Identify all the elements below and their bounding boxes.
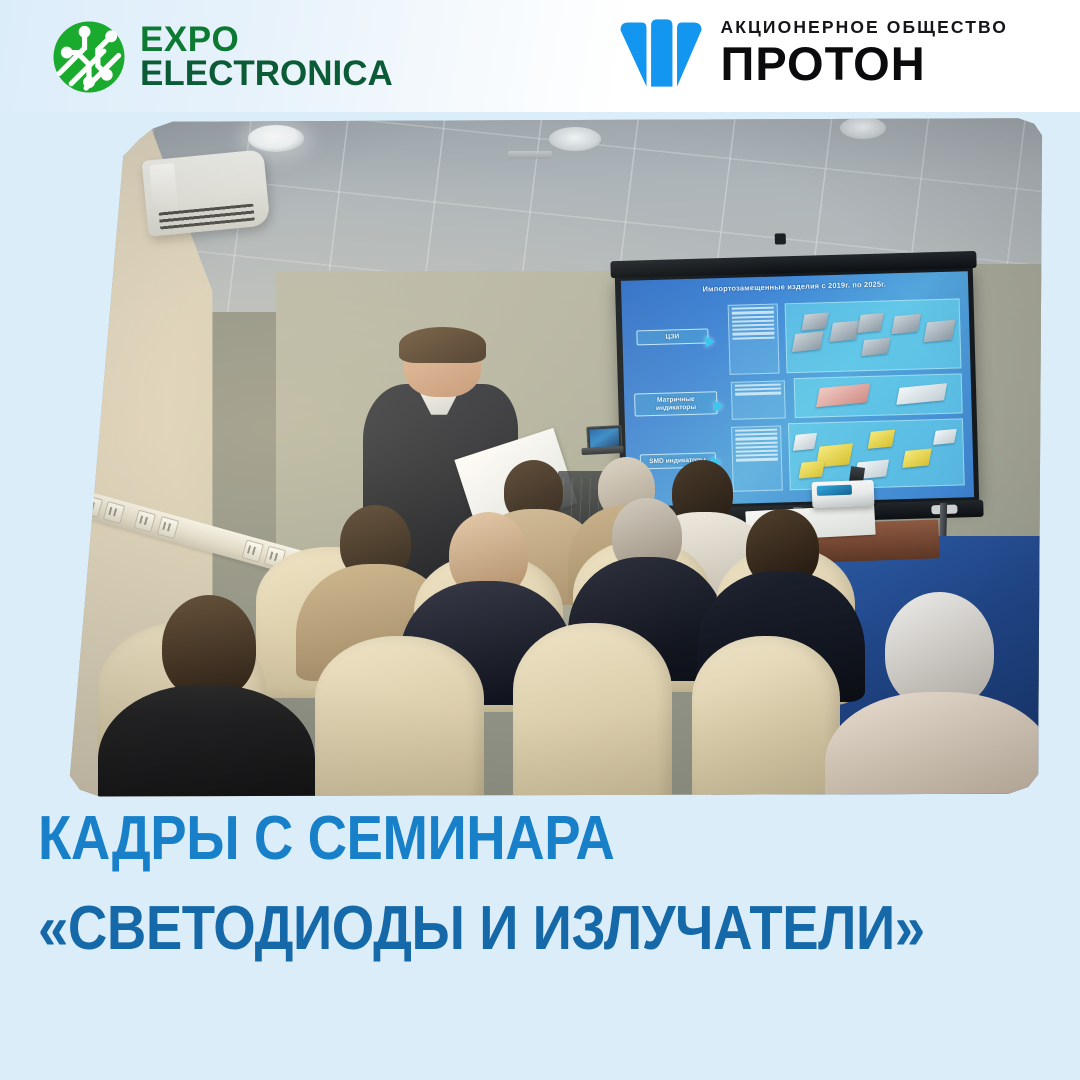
seminar-room-photo: Импортозамещенные изделия с 2019г. по 20…	[58, 112, 1048, 802]
poster-title-line2: «СВЕТОДИОДЫ И ИЗЛУЧАТЕЛИ»	[38, 896, 918, 962]
wall-socket	[157, 516, 179, 539]
presentation-slide: Импортозамещенные изделия с 2019г. по 20…	[621, 271, 974, 506]
chair	[513, 623, 671, 802]
slide-part-list	[731, 380, 786, 420]
expo-logo-line1: EXPO	[140, 23, 393, 57]
air-conditioner-icon	[142, 149, 271, 236]
proton-company-form: АКЦИОНЕРНОЕ ОБЩЕСТВО	[721, 19, 1008, 37]
proton-trident-mark-icon	[619, 16, 703, 90]
slide-product-gallery	[788, 418, 965, 490]
product-image	[934, 429, 958, 445]
product-image	[896, 383, 946, 404]
product-image	[862, 337, 891, 356]
audience-head	[162, 595, 256, 699]
slide-category-label: Матричные индикаторы	[635, 391, 718, 416]
slide-part-list	[731, 425, 783, 492]
wall-socket	[242, 539, 264, 562]
product-image	[816, 383, 870, 407]
product-image	[793, 433, 817, 451]
product-image	[903, 448, 933, 468]
arrow-right-icon	[706, 335, 715, 347]
laptop-on-stand	[580, 425, 623, 455]
slide-product-gallery	[794, 373, 964, 418]
poster-title-line1: КАДРЫ С СЕМИНАРА	[38, 806, 918, 872]
slide-part-list	[727, 303, 779, 374]
projection-screen: Импортозамещенные изделия с 2019г. по 20…	[615, 266, 980, 512]
chair	[315, 636, 483, 802]
expo-logo-line2: ELECTRONICA	[140, 57, 393, 91]
screen-knob	[775, 233, 786, 244]
slide-product-gallery	[785, 298, 962, 373]
product-image	[868, 429, 896, 448]
poster-canvas: EXPO ELECTRONICA АКЦИОНЕРНОЕ ОБЩЕСТВО ПР…	[0, 0, 1080, 1080]
wall-socket	[103, 501, 125, 524]
header-bar: EXPO ELECTRONICA АКЦИОНЕРНОЕ ОБЩЕСТВО ПР…	[0, 0, 1080, 112]
product-image	[830, 320, 860, 342]
proton-logo: АКЦИОНЕРНОЕ ОБЩЕСТВО ПРОТОН	[619, 16, 1008, 90]
product-image	[799, 460, 825, 478]
expo-electronica-circuit-circle-icon	[52, 20, 126, 94]
photo-scene: Импортозамещенные изделия с 2019г. по 20…	[58, 112, 1048, 802]
product-image	[857, 313, 883, 333]
product-image	[802, 312, 830, 331]
projector-on-table	[812, 480, 875, 508]
ceiling-vent	[508, 151, 552, 159]
presenter-hair	[399, 327, 487, 363]
ceiling-light	[248, 125, 304, 152]
product-image	[923, 319, 955, 342]
poster-title: КАДРЫ С СЕМИНАРА «СВЕТОДИОДЫ И ИЗЛУЧАТЕЛ…	[38, 806, 1038, 961]
wall-socket	[134, 509, 156, 532]
product-image	[892, 313, 922, 333]
slide-title: Импортозамещенные изделия с 2019г. по 20…	[642, 277, 947, 295]
proton-company-name: ПРОТОН	[721, 40, 1008, 87]
product-image	[792, 331, 823, 351]
slide-category-label: ЦЗИ	[636, 328, 709, 346]
expo-electronica-logo: EXPO ELECTRONICA	[52, 20, 393, 94]
chair	[692, 636, 841, 802]
wall-socket	[80, 494, 102, 517]
arrow-right-icon	[715, 400, 724, 412]
